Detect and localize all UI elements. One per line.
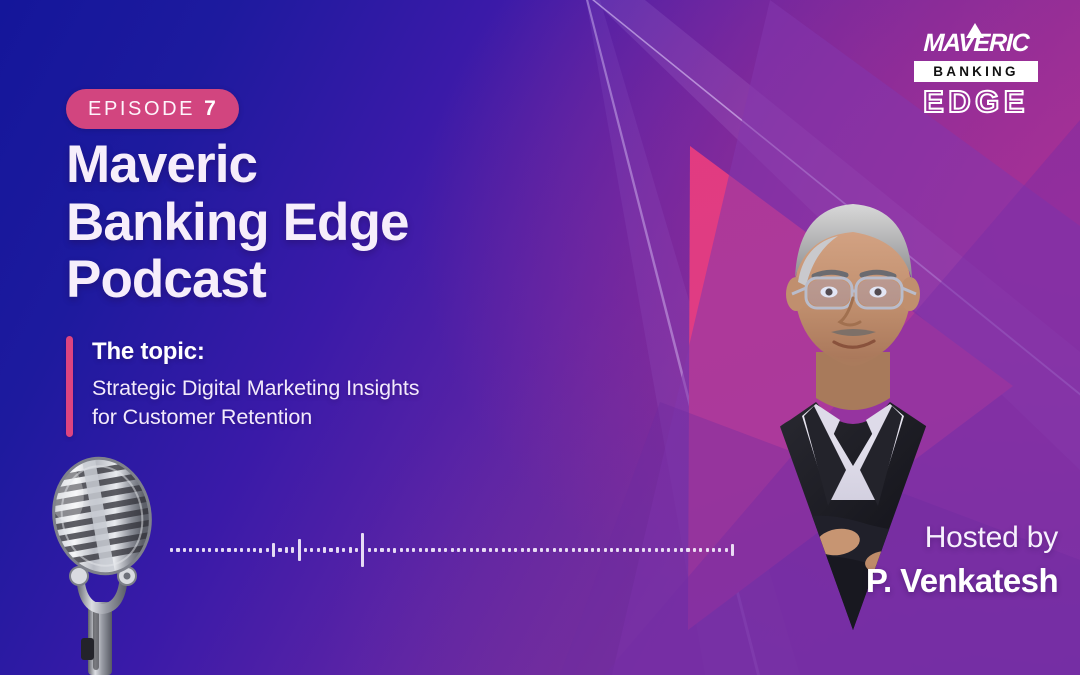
topic-line-2: for Customer Retention: [92, 403, 419, 432]
page-title: Maveric Banking Edge Podcast: [66, 136, 596, 309]
logo-edge-text: EDGE: [914, 85, 1038, 119]
waveform-bar: [629, 548, 632, 552]
waveform-bar: [400, 548, 403, 552]
waveform-bar: [247, 548, 250, 552]
waveform-bar: [342, 548, 345, 552]
waveform-bar: [572, 548, 575, 552]
host-name: P. Venkatesh: [758, 562, 1058, 600]
waveform-bar: [451, 548, 454, 552]
waveform-bar: [406, 548, 409, 552]
waveform-bar: [489, 548, 492, 552]
waveform-bar: [559, 548, 562, 552]
waveform-bar: [170, 548, 173, 552]
logo-banking-text: BANKING: [933, 64, 1018, 79]
waveform-bar: [310, 548, 313, 552]
waveform-bar: [648, 548, 651, 552]
waveform-bar: [584, 548, 587, 552]
maveric-banking-edge-logo: MAVERIC BANKING EDGE: [914, 28, 1038, 119]
waveform-bar: [189, 548, 192, 552]
waveform-bar: [380, 548, 383, 552]
waveform-bar: [387, 548, 390, 552]
waveform-bar: [215, 548, 218, 552]
waveform-bar: [317, 548, 320, 552]
waveform-bar: [463, 548, 466, 552]
waveform-bar: [444, 548, 447, 552]
title-line-1: Maveric: [66, 136, 596, 194]
topic-accent-bar-icon: [66, 336, 73, 437]
waveform-bar: [635, 548, 638, 552]
waveform-bar: [291, 547, 294, 553]
waveform-bar: [266, 548, 269, 552]
hosted-by-label: Hosted by: [758, 521, 1058, 556]
waveform-bar: [623, 548, 626, 552]
episode-number: 7: [204, 97, 217, 121]
waveform-bar: [674, 548, 677, 552]
audio-waveform-icon: [170, 530, 490, 570]
waveform-bar: [227, 548, 230, 552]
waveform-bar: [253, 548, 256, 552]
waveform-bar: [438, 548, 441, 552]
waveform-bar: [533, 548, 536, 552]
waveform-bar: [642, 548, 645, 552]
waveform-bar: [495, 548, 498, 552]
waveform-bar: [661, 548, 664, 552]
waveform-bar: [393, 548, 396, 553]
episode-label: EPISODE: [88, 98, 195, 121]
waveform-bar: [597, 548, 600, 552]
waveform-bar: [508, 548, 511, 552]
waveform-bar: [712, 548, 715, 552]
waveform-bar: [686, 548, 689, 552]
waveform-bar: [304, 548, 307, 552]
waveform-bar: [693, 548, 696, 552]
waveform-bar: [298, 539, 301, 561]
waveform-bar: [604, 548, 607, 552]
waveform-bar: [610, 548, 613, 552]
waveform-bar: [457, 548, 460, 552]
waveform-bar: [482, 548, 485, 552]
waveform-bar: [202, 548, 205, 552]
waveform-bar: [591, 548, 594, 552]
waveform-bar: [425, 548, 428, 552]
waveform-bar: [183, 548, 186, 552]
waveform-bar: [176, 548, 179, 552]
waveform-bar: [699, 548, 702, 552]
waveform-bar: [431, 548, 434, 552]
waveform-bar: [470, 548, 473, 552]
topic-label: The topic:: [92, 338, 419, 366]
waveform-bar: [680, 548, 683, 552]
waveform-bar: [521, 548, 524, 552]
title-line-3: Podcast: [66, 251, 596, 309]
waveform-bar: [578, 548, 581, 552]
waveform-bar: [553, 548, 556, 552]
waveform-bar: [349, 547, 352, 553]
waveform-bar: [285, 547, 288, 553]
waveform-bar: [323, 547, 326, 553]
waveform-bar: [278, 548, 281, 552]
waveform-bar: [336, 547, 339, 553]
waveform-bar: [374, 548, 377, 552]
waveform-bar: [240, 548, 243, 552]
waveform-bar: [355, 548, 358, 552]
waveform-bar: [221, 548, 224, 552]
waveform-bar: [540, 548, 543, 552]
waveform-bar: [546, 548, 549, 552]
waveform-bar: [706, 548, 709, 552]
waveform-bar: [234, 548, 237, 552]
waveform-bar: [412, 548, 415, 552]
waveform-bar: [725, 548, 728, 552]
topic-block: The topic: Strategic Digital Marketing I…: [66, 336, 419, 437]
podcast-cover-poster: EPISODE 7 Maveric Banking Edge Podcast T…: [0, 0, 1080, 675]
title-line-2: Banking Edge: [66, 194, 596, 252]
waveform-bar: [259, 548, 262, 553]
host-credit: Hosted by P. Venkatesh: [758, 521, 1058, 600]
waveform-bar: [196, 548, 199, 552]
retro-microphone-icon: [32, 452, 172, 675]
waveform-bar: [361, 533, 364, 567]
waveform-bar: [419, 548, 422, 552]
waveform-bar: [272, 543, 275, 557]
waveform-bar: [476, 548, 479, 552]
waveform-bar: [731, 544, 734, 556]
waveform-bar: [329, 548, 332, 552]
waveform-bar: [208, 548, 211, 552]
topic-line-1: Strategic Digital Marketing Insights: [92, 374, 419, 403]
waveform-bar: [655, 548, 658, 552]
logo-banking-bar: BANKING: [914, 61, 1038, 82]
waveform-bar: [527, 548, 530, 552]
logo-triangle-icon: [966, 23, 984, 38]
waveform-bar: [368, 548, 371, 552]
episode-badge: EPISODE 7: [66, 89, 239, 129]
logo-brand-row: MAVERIC: [914, 28, 1038, 58]
waveform-bar: [502, 548, 505, 552]
